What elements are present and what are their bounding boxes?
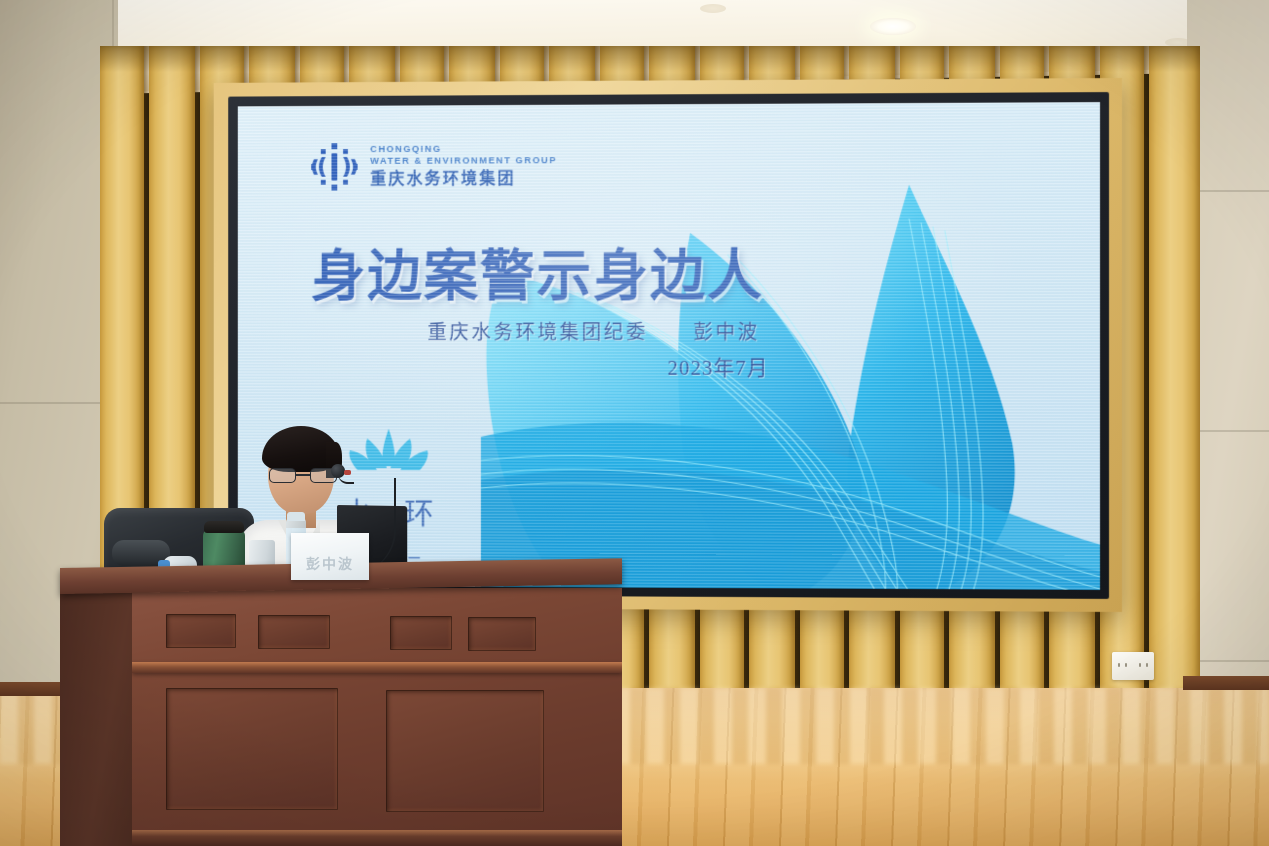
glasses-bridge [296, 474, 310, 476]
hair [262, 426, 340, 472]
podium-panel-small [166, 614, 236, 648]
company-logo: CHONGQING WATER & ENVIRONMENT GROUP 重庆水务… [309, 140, 557, 192]
socket-port [1116, 661, 1129, 672]
podium-panel-small [468, 617, 536, 651]
slide-presenter-name: 彭中波 [693, 322, 760, 344]
slide-subtitle-org: 重庆水务环境集团纪委 [427, 322, 648, 344]
socket-port [1137, 661, 1150, 672]
nameplate-text: 彭中波 [306, 554, 354, 574]
slide-subtitle-line: 重庆水务环境集团纪委 彭中波 [427, 316, 759, 345]
podium-front-panel [132, 588, 622, 846]
podium [60, 568, 622, 846]
conference-room-scene: CHONGQING WATER & ENVIRONMENT GROUP 重庆水务… [0, 0, 1269, 846]
ceiling-downlight [700, 4, 726, 13]
podium-side-panel [60, 586, 136, 846]
podium-base-trim [132, 830, 622, 846]
power-socket[interactable] [1112, 652, 1154, 680]
slide-date: 2023年7月 [668, 352, 769, 382]
ceiling-downlight [870, 18, 916, 35]
podium-rail [132, 662, 622, 673]
microphone-head [331, 464, 345, 478]
podium-panel-small [390, 616, 452, 650]
water-bottle-cap [287, 512, 305, 521]
podium-panel-large [386, 690, 544, 812]
logo-english-line2: WATER & ENVIRONMENT GROUP [370, 155, 557, 167]
logo-english-line1: CHONGQING [370, 144, 557, 156]
thermos-lid [204, 521, 244, 533]
water-group-logo-icon [309, 141, 359, 192]
podium-panel-large [166, 688, 338, 810]
lens-left [269, 468, 296, 483]
eyeglasses [268, 468, 338, 484]
slide-title: 身边案警示身边人 [311, 231, 858, 312]
podium-panel-small [258, 615, 330, 649]
baseboard-right [1183, 676, 1269, 690]
microphone-indicator [344, 470, 351, 475]
logo-chinese-name: 重庆水务环境集团 [370, 169, 557, 189]
desk-nameplate: 彭中波 [291, 533, 369, 580]
